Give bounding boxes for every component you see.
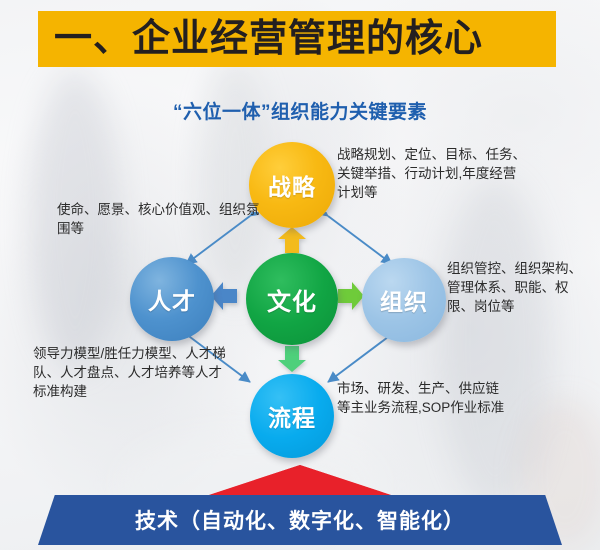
node-culture[interactable]: 文化 — [246, 253, 338, 345]
slide-canvas: 一、企业经营管理的核心 “六位一体”组织能力关键要素 — [0, 0, 600, 550]
background-mist-right — [440, 180, 550, 510]
technology-banner: 技术（自动化、数字化、智能化） — [38, 495, 562, 545]
node-talent-label: 人才 — [148, 282, 196, 316]
node-organization-label: 组织 — [380, 283, 428, 317]
subtitle: “六位一体”组织能力关键要素 — [0, 97, 600, 124]
connector-strategy-organization-icon — [320, 212, 400, 268]
node-culture-label: 文化 — [267, 282, 317, 317]
arrow-up-icon — [277, 226, 307, 254]
arrow-left-icon — [210, 281, 238, 311]
description-talent: 领导力模型/胜任力模型、人才梯队、人才盘点、人才培养等人才标准构建 — [33, 344, 228, 401]
title-banner: 一、企业经营管理的核心 — [38, 11, 556, 67]
description-process: 市场、研发、生产、供应链等主业务流程,SOP作业标准 — [337, 379, 512, 417]
node-strategy-label: 战略 — [268, 168, 316, 202]
node-process-label: 流程 — [268, 399, 316, 433]
node-talent[interactable]: 人才 — [130, 257, 214, 341]
node-organization[interactable]: 组织 — [362, 258, 446, 342]
description-strategy: 战略规划、定位、目标、任务、关键举措、行动计划,年度经营计划等 — [337, 145, 527, 202]
arrow-right-icon — [337, 281, 365, 311]
arrow-down-icon — [277, 345, 307, 373]
description-culture: 使命、愿景、核心价值观、组织氛围等 — [57, 200, 267, 238]
red-chevron-up-icon — [200, 465, 400, 500]
page-title: 一、企业经营管理的核心 — [54, 20, 483, 58]
description-organization: 组织管控、组织架构、管理体系、职能、权限、岗位等 — [447, 259, 587, 316]
technology-banner-label: 技术（自动化、数字化、智能化） — [135, 505, 465, 535]
node-process[interactable]: 流程 — [250, 374, 334, 458]
